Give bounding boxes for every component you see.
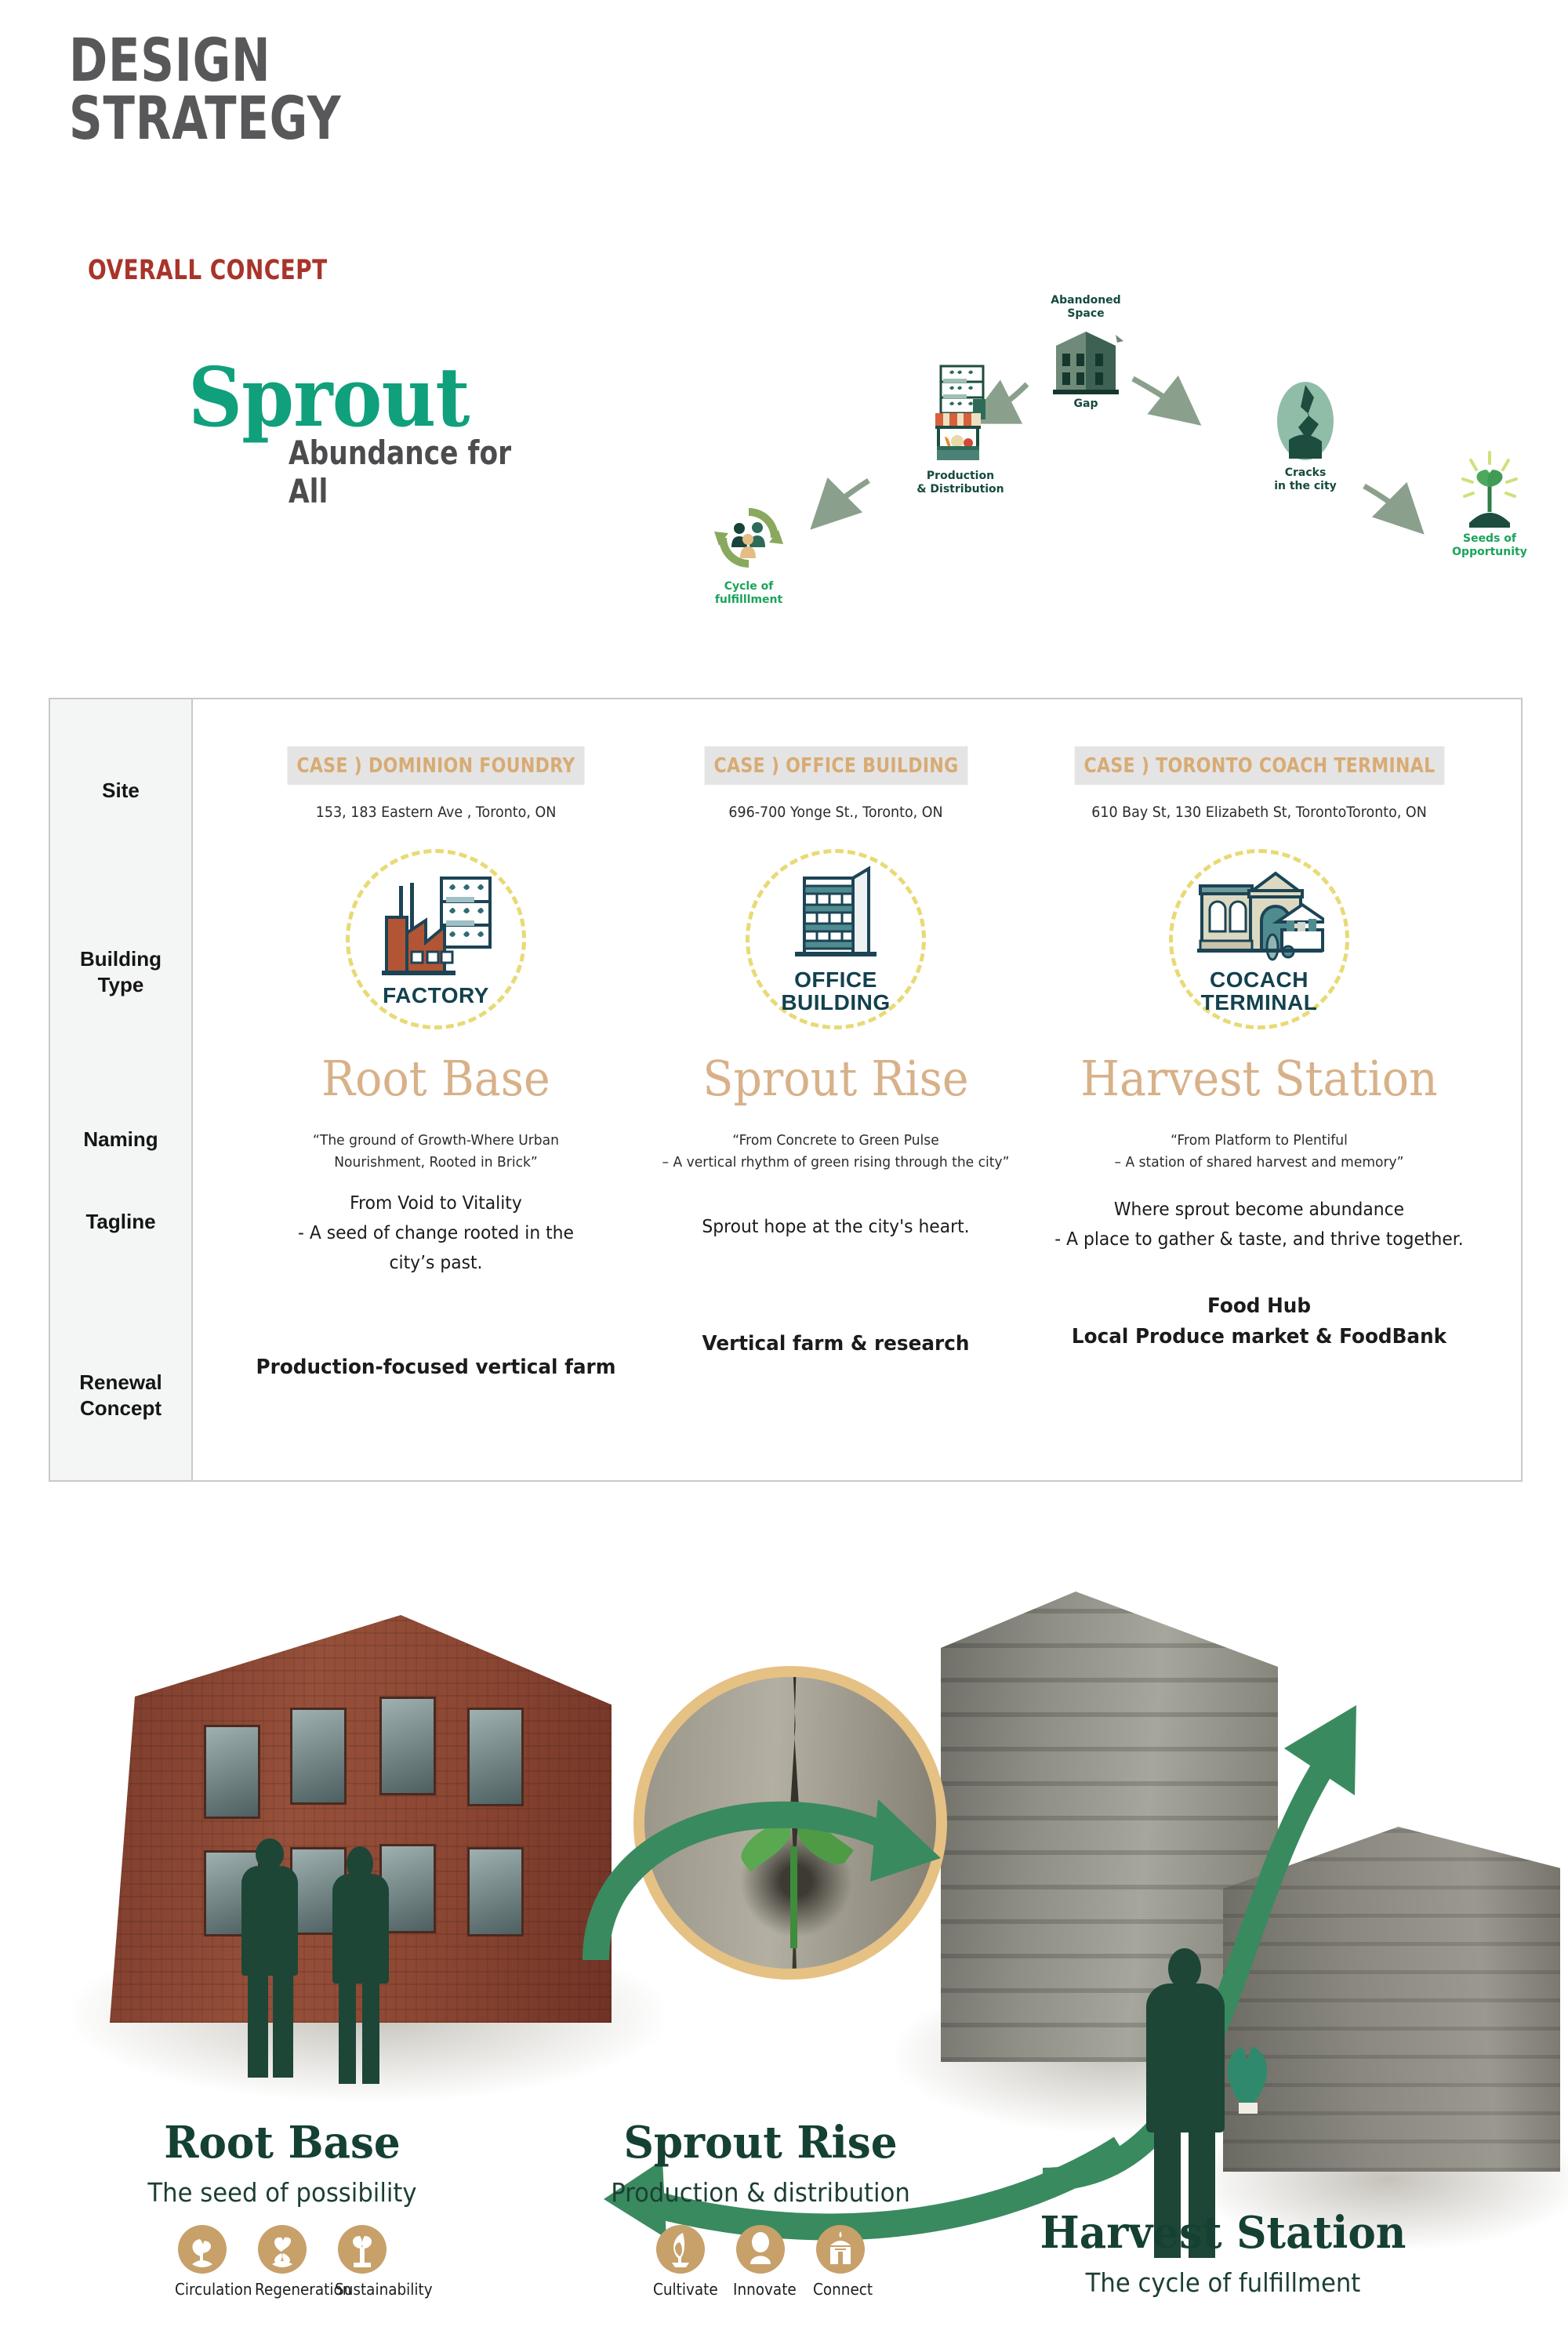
case-tagline-quote-3: “From Platform to Plentiful – A station … bbox=[1036, 1130, 1483, 1174]
case-address-3: 610 Bay St, 130 Elizabeth St, TorontoTor… bbox=[1043, 804, 1475, 821]
table-body: CASE ) DOMINION FOUNDRY 153, 183 Eastern… bbox=[193, 699, 1521, 1480]
pill-circulation: Circulation bbox=[172, 2225, 232, 2299]
arrow-production-to-cycle bbox=[829, 481, 869, 510]
regeneration-sprout-icon bbox=[258, 2225, 307, 2274]
pill-label-cultivate: Cultivate bbox=[653, 2280, 708, 2299]
coach-terminal-icon bbox=[1194, 864, 1324, 966]
page-title-line-1: DESIGN bbox=[69, 31, 342, 89]
row-label-tagline: Tagline bbox=[50, 1209, 191, 1235]
pill-innovate: Innovate bbox=[731, 2225, 790, 2299]
abandoned-building-icon bbox=[1047, 324, 1125, 396]
flow-label-abandoned-space: Abandoned Space bbox=[1051, 294, 1120, 320]
concept-flow-diagram: Abandoned Space Gap Cracks in the city bbox=[690, 294, 1560, 631]
brand-tagline: Abundance for All bbox=[289, 434, 554, 510]
case-tagline-body-3: Where sprout become abundance - A place … bbox=[1036, 1196, 1483, 1255]
case-tagline-quote-2: “From Concrete to Green Pulse – A vertic… bbox=[657, 1130, 1014, 1174]
case-badge-2: CASE ) OFFICE BUILDING bbox=[704, 746, 967, 785]
flow-node-cycle: Cycle of fulfilllment bbox=[682, 502, 815, 607]
case-column-dominion-foundry: CASE ) DOMINION FOUNDRY 153, 183 Eastern… bbox=[240, 699, 632, 1480]
flow-node-production: Production & Distribution bbox=[894, 365, 1027, 496]
flow-node-cracks: Cracks in the city bbox=[1239, 380, 1372, 493]
phase-name-root-base: Root Base bbox=[126, 2121, 439, 2165]
arrow-head-1 bbox=[870, 1799, 941, 1882]
phase-sub-root-base: The seed of possibility bbox=[129, 2177, 436, 2208]
building-type-label-3: COCACH TERMINAL bbox=[1201, 969, 1318, 1014]
case-badge-1: CASE ) DOMINION FOUNDRY bbox=[287, 746, 584, 785]
photo-collage: Root Base The seed of possibility Circul… bbox=[0, 1490, 1568, 2352]
case-address-2: 696-700 Yonge St., Toronto, ON bbox=[662, 804, 1009, 821]
people-cycle-icon bbox=[713, 502, 785, 574]
flow-sublabel-gap: Gap bbox=[1019, 397, 1152, 411]
building-type-circle-3: COCACH TERMINAL bbox=[1169, 849, 1349, 1029]
office-building-icon bbox=[784, 864, 887, 966]
case-renewal-2: Vertical farm & research bbox=[657, 1329, 1014, 1359]
case-tagline-body-1: From Void to Vitality - A seed of change… bbox=[250, 1189, 622, 1279]
sprout-icon bbox=[1452, 451, 1527, 529]
pill-label-connect: Connect bbox=[813, 2280, 868, 2299]
phase-pills-root-base: Circulation Regeneration Sustainability bbox=[118, 2225, 447, 2299]
flow-label-seeds: Seeds of Opportunity bbox=[1423, 532, 1556, 559]
row-label-renewal-concept: Renewal Concept bbox=[50, 1370, 191, 1421]
section-label: OVERALL CONCEPT bbox=[88, 255, 328, 286]
leaf-pot-icon bbox=[656, 2225, 705, 2274]
flow-node-seeds: Seeds of Opportunity bbox=[1423, 451, 1556, 559]
case-column-office-building: CASE ) OFFICE BUILDING 696-700 Yonge St.… bbox=[648, 699, 1024, 1480]
phase-sub-harvest-station: The cycle of fulfillment bbox=[1026, 2267, 1420, 2298]
phase-harvest-station: Harvest Station The cycle of fulfillment bbox=[1011, 2211, 1435, 2298]
page-title: DESIGN STRATEGY bbox=[69, 31, 342, 148]
flow-label-cracks: Cracks in the city bbox=[1239, 466, 1372, 493]
brand-logo: Sprout Abundance for All bbox=[188, 357, 612, 510]
pill-regeneration: Regeneration bbox=[252, 2225, 312, 2299]
phase-pills-sprout-rise: Cultivate Innovate Connect bbox=[596, 2225, 925, 2299]
flow-node-abandoned-space: Abandoned Space Gap bbox=[1019, 294, 1152, 411]
building-type-label-2: OFFICE BUILDING bbox=[781, 969, 890, 1014]
phase-name-sprout-rise: Sprout Rise bbox=[604, 2121, 917, 2165]
page-title-line-2: STRATEGY bbox=[69, 89, 342, 147]
pill-label-circulation: Circulation bbox=[175, 2280, 230, 2299]
arrow-factory-to-office bbox=[596, 1815, 906, 1960]
row-label-building-type: Building Type bbox=[50, 946, 191, 997]
factory-icon bbox=[377, 872, 495, 982]
pill-sustainability: Sustainability bbox=[332, 2225, 392, 2299]
pill-label-sustainability: Sustainability bbox=[335, 2280, 390, 2299]
circulation-sprout-icon bbox=[178, 2225, 227, 2274]
case-naming-2: Sprout Rise bbox=[662, 1054, 1009, 1103]
building-arch-icon bbox=[816, 2225, 865, 2274]
person-icon bbox=[736, 2225, 785, 2274]
pill-label-innovate: Innovate bbox=[733, 2280, 788, 2299]
flow-label-production: Production & Distribution bbox=[894, 470, 1027, 496]
pill-cultivate: Cultivate bbox=[651, 2225, 710, 2299]
market-stall-icon bbox=[929, 365, 992, 466]
case-badge-3: CASE ) TORONTO COACH TERMINAL bbox=[1074, 746, 1444, 785]
brand-name: Sprout bbox=[188, 357, 578, 438]
case-naming-3: Harvest Station bbox=[1043, 1054, 1475, 1103]
pill-connect: Connect bbox=[811, 2225, 870, 2299]
case-naming-1: Root Base bbox=[256, 1054, 616, 1103]
row-label-naming: Naming bbox=[50, 1127, 191, 1152]
case-renewal-3: Food Hub Local Produce market & FoodBank bbox=[1036, 1291, 1483, 1352]
building-type-label-1: FACTORY bbox=[383, 985, 489, 1007]
case-tagline-body-2: Sprout hope at the city's heart. bbox=[657, 1213, 1014, 1243]
case-tagline-quote-1: “The ground of Growth-Where Urban Nouris… bbox=[250, 1130, 622, 1174]
building-type-circle-2: OFFICE BUILDING bbox=[746, 849, 926, 1029]
case-address-1: 153, 183 Eastern Ave , Toronto, ON bbox=[256, 804, 616, 821]
sustainability-sprout-icon bbox=[338, 2225, 387, 2274]
harvest-bundle-icon bbox=[1207, 2038, 1301, 2117]
case-comparison-table: Site Building Type Naming Tagline Renewa… bbox=[49, 698, 1523, 1482]
phase-sub-sprout-rise: Production & distribution bbox=[608, 2177, 914, 2208]
pill-label-regeneration: Regeneration bbox=[255, 2280, 310, 2299]
phase-name-harvest-station: Harvest Station bbox=[1022, 2211, 1425, 2255]
building-type-circle-1: FACTORY bbox=[346, 849, 526, 1029]
flow-label-cycle: Cycle of fulfilllment bbox=[682, 580, 815, 607]
case-column-coach-terminal: CASE ) TORONTO COACH TERMINAL 610 Bay St… bbox=[1024, 699, 1494, 1480]
crack-icon bbox=[1275, 380, 1336, 462]
phase-sprout-rise: Sprout Rise Production & distribution Cu… bbox=[596, 2121, 925, 2299]
phase-root-base: Root Base The seed of possibility Circul… bbox=[118, 2121, 447, 2299]
table-row-label-column: Site Building Type Naming Tagline Renewa… bbox=[50, 699, 193, 1480]
case-renewal-1: Production-focused vertical farm bbox=[250, 1352, 622, 1383]
row-label-site: Site bbox=[50, 778, 191, 804]
